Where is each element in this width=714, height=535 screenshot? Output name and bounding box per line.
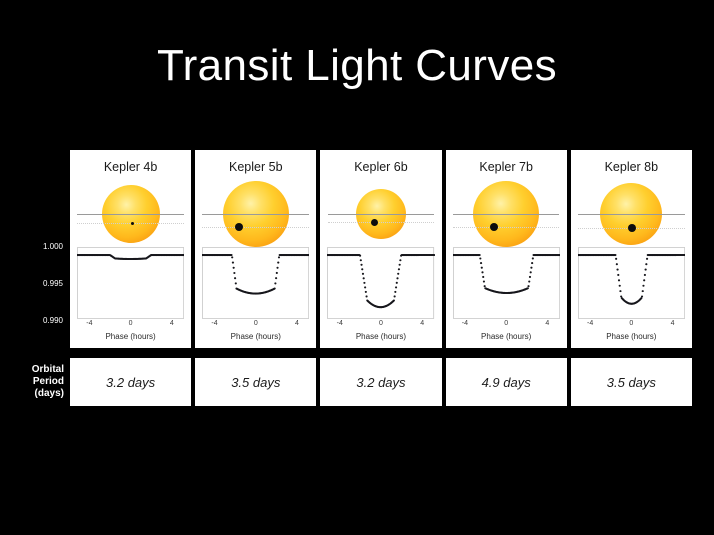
orbit-chord-center: [202, 214, 309, 215]
phase-tick-0: 0: [379, 320, 383, 327]
transit-panel[interactable]: Kepler 8b -4 0 4 Phase (hours): [571, 150, 692, 348]
star-diagram: [446, 178, 567, 250]
flux-tick-0990: 0.990: [43, 316, 63, 325]
orbital-period-cell: 3.5 days: [195, 358, 316, 406]
phase-tick-0: 0: [129, 320, 133, 327]
orbital-period-axis-label: Orbital Period (days): [0, 358, 64, 406]
phase-axis-label: Phase (hours): [320, 332, 441, 341]
orbital-period-label-line-2: Period: [33, 376, 64, 388]
panel-title: Kepler 6b: [320, 160, 441, 174]
orbital-period-label-line-1: Orbital: [32, 364, 64, 376]
phase-tick-4: 4: [671, 320, 675, 327]
panel-title: Kepler 4b: [70, 160, 191, 174]
star-diagram: [195, 178, 316, 250]
orbit-chord-center: [328, 214, 435, 215]
phase-tick-4: 4: [420, 320, 424, 327]
phase-tick-row: -4 0 4: [202, 320, 309, 330]
transit-panel[interactable]: Kepler 7b -4 0 4 Phase (hours): [446, 150, 567, 348]
light-curve-plot[interactable]: [327, 247, 434, 319]
phase-tick-minus4: -4: [337, 320, 343, 327]
phase-tick-4: 4: [545, 320, 549, 327]
planet-dot-icon: [628, 224, 636, 232]
planet-dot-icon: [131, 222, 134, 225]
transit-panel[interactable]: Kepler 4b -4 0 4 Phase (hours): [70, 150, 191, 348]
orbit-chord-transit: [453, 227, 560, 228]
phase-tick-4: 4: [295, 320, 299, 327]
page-title: Transit Light Curves: [0, 44, 714, 88]
phase-axis-label: Phase (hours): [70, 332, 191, 341]
star-diagram: [320, 178, 441, 250]
phase-axis-label: Phase (hours): [446, 332, 567, 341]
phase-tick-row: -4 0 4: [578, 320, 685, 330]
orbit-chord-center: [578, 214, 685, 215]
orbital-period-cell: 3.2 days: [320, 358, 441, 406]
panel-title: Kepler 5b: [195, 160, 316, 174]
transit-panel[interactable]: Kepler 6b -4 0 4 Phase (hours): [320, 150, 441, 348]
phase-tick-minus4: -4: [462, 320, 468, 327]
phase-tick-minus4: -4: [86, 320, 92, 327]
star-diagram: [70, 178, 191, 250]
phase-tick-minus4: -4: [211, 320, 217, 327]
light-curve-plot[interactable]: [77, 247, 184, 319]
orbit-chord-center: [453, 214, 560, 215]
orbital-period-label-line-3: (days): [35, 388, 64, 400]
flux-axis: 1.000 0.995 0.990: [0, 150, 70, 348]
flux-tick-1000: 1.000: [43, 242, 63, 251]
orbit-chord-center: [77, 214, 184, 215]
panel-title: Kepler 7b: [446, 160, 567, 174]
panel-title: Kepler 8b: [571, 160, 692, 174]
orbital-period-cell: 4.9 days: [446, 358, 567, 406]
orbital-period-row: 3.2 days3.5 days3.2 days4.9 days3.5 days: [70, 358, 692, 406]
orbit-chord-transit: [202, 227, 309, 228]
panel-grid: Kepler 4b -4 0 4 Phase (hours) Kepler 5b: [70, 150, 692, 348]
planet-dot-icon: [371, 219, 378, 226]
phase-axis-label: Phase (hours): [571, 332, 692, 341]
light-curve-plot[interactable]: [578, 247, 685, 319]
star-diagram: [571, 178, 692, 250]
phase-axis-label: Phase (hours): [195, 332, 316, 341]
phase-tick-minus4: -4: [587, 320, 593, 327]
orbital-period-cell: 3.2 days: [70, 358, 191, 406]
phase-tick-row: -4 0 4: [453, 320, 560, 330]
phase-tick-row: -4 0 4: [77, 320, 184, 330]
transit-panel[interactable]: Kepler 5b -4 0 4 Phase (hours): [195, 150, 316, 348]
phase-tick-0: 0: [504, 320, 508, 327]
orbital-period-cell: 3.5 days: [571, 358, 692, 406]
flux-tick-0995: 0.995: [43, 279, 63, 288]
light-curve-plot[interactable]: [453, 247, 560, 319]
phase-tick-4: 4: [170, 320, 174, 327]
phase-tick-row: -4 0 4: [327, 320, 434, 330]
light-curve-plot[interactable]: [202, 247, 309, 319]
phase-tick-0: 0: [254, 320, 258, 327]
phase-tick-0: 0: [629, 320, 633, 327]
orbit-chord-transit: [328, 222, 435, 223]
